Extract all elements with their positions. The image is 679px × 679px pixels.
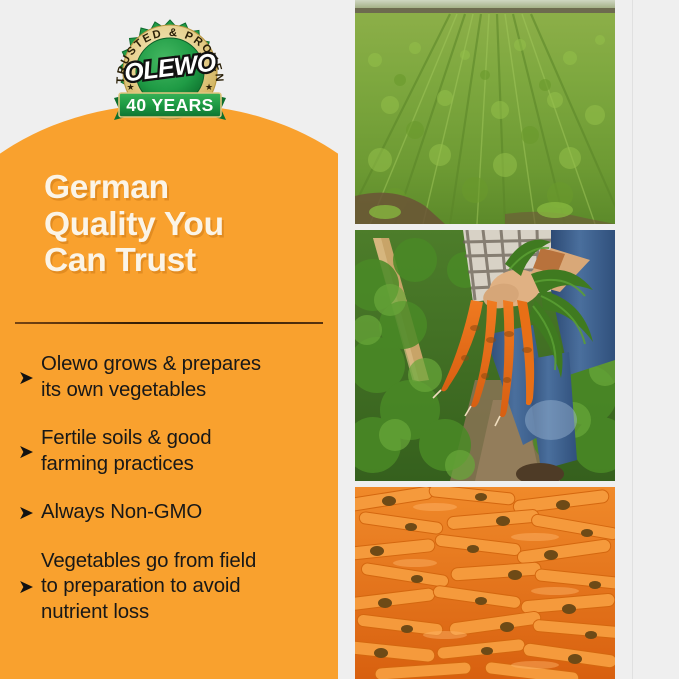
list-item: ➤ Olewo grows & prepares its own vegetab… [18,352,334,403]
section-divider [15,322,323,324]
badge-ribbon-text: 40 YEARS [126,95,214,115]
arrow-right-icon: ➤ [18,369,41,388]
arrow-right-icon: ➤ [18,443,41,462]
arrow-right-icon: ➤ [18,504,41,523]
arrow-right-icon: ➤ [18,578,41,597]
list-item: ➤ Vegetables go from field to preparatio… [18,549,334,626]
list-item: ➤ Fertile soils & good farming practices [18,426,334,477]
harvested-carrot-pile-photo [355,487,615,679]
farmer-holding-carrots-photo [355,230,615,481]
carrot-field-rows-photo [355,0,615,224]
list-item-label: Fertile soils & good farming practices [41,426,334,477]
list-item-label: Vegetables go from field to preparation … [41,549,334,626]
trust-badge: TRUSTED & PROVEN ★ ★ OLEWO 40 YEARS [108,16,232,138]
page-title: German Quality You Can Trust [44,170,334,280]
badge-star-right-icon: ★ [205,82,213,92]
infographic-panel: TRUSTED & PROVEN ★ ★ OLEWO 40 YEARS Germ… [0,0,679,679]
right-column-divider [632,0,633,679]
list-item: ➤ Always Non-GMO [18,500,334,526]
list-item-label: Olewo grows & prepares its own vegetable… [41,352,334,403]
feature-bullet-list: ➤ Olewo grows & prepares its own vegetab… [18,352,334,648]
list-item-label: Always Non-GMO [41,500,334,526]
